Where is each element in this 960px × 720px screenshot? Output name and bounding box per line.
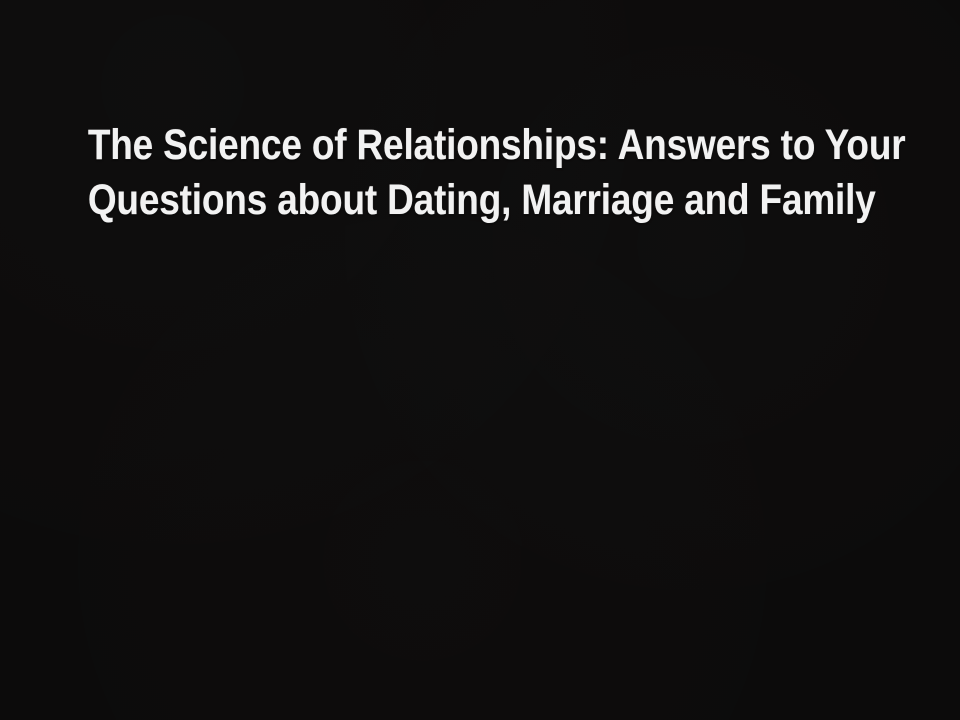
cover-title-block: The Science of Relationships: Answers to…: [0, 118, 960, 228]
cover-title-line-2: Questions about Dating, Marriage and Fam…: [88, 173, 872, 228]
book-cover-image: The Science of Relationships: Answers to…: [0, 0, 960, 720]
cover-title-line-1: The Science of Relationships: Answers to…: [88, 118, 872, 173]
